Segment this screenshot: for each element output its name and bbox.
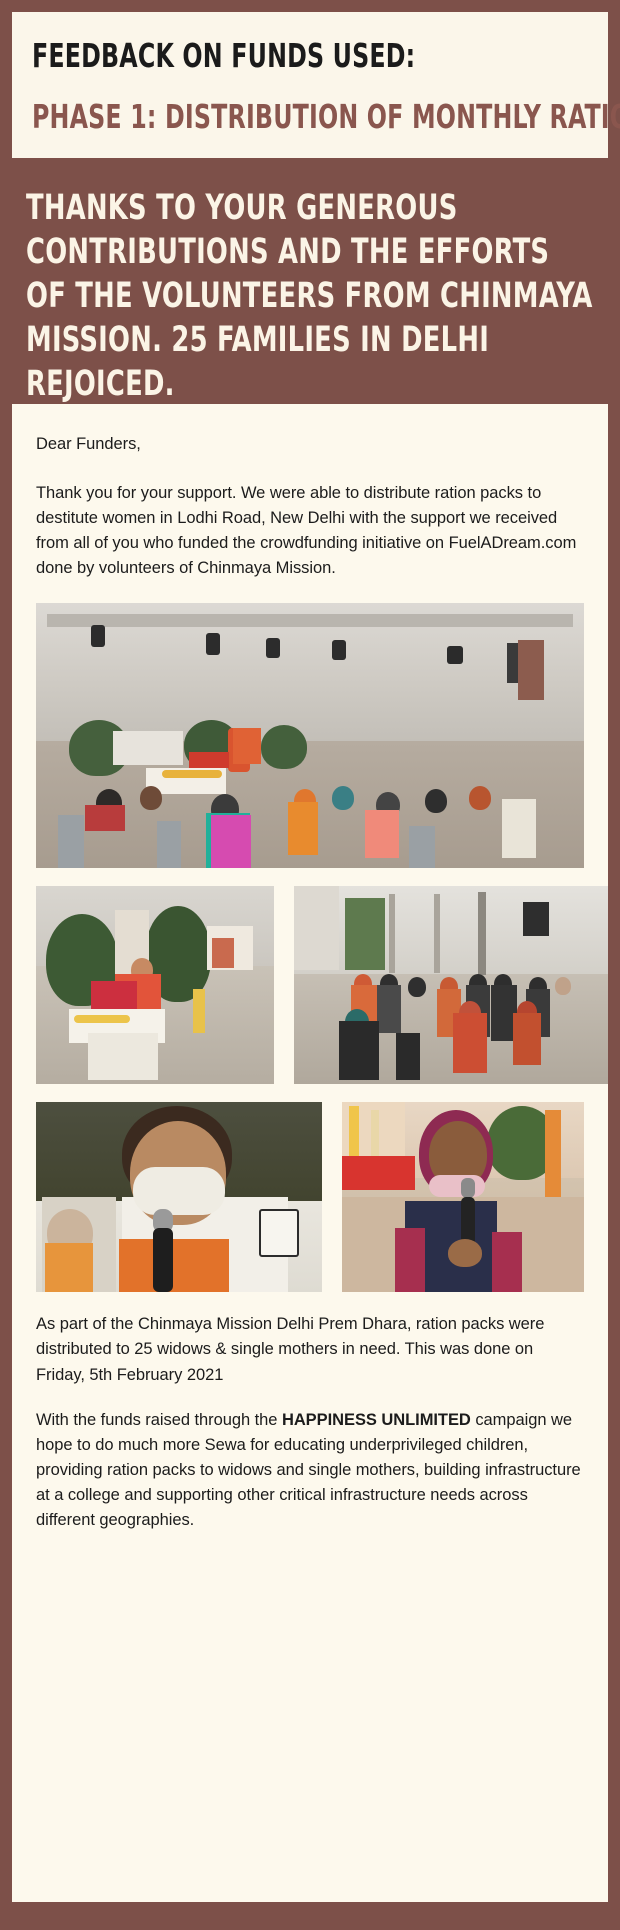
campaign-name-emphasis: HAPPINESS UNLIMITED: [282, 1411, 471, 1429]
feedback-update-page: FEEDBACK ON FUNDS USED: PHASE 1: DISTRIB…: [0, 0, 620, 1930]
photo-gallery: [36, 603, 584, 1292]
photo-stage-speaker: [36, 886, 274, 1084]
intro-paragraph: Thank you for your support. We were able…: [36, 481, 584, 581]
photo-hall-audience: [36, 603, 584, 868]
title-card: FEEDBACK ON FUNDS USED: PHASE 1: DISTRIB…: [12, 12, 608, 158]
page-title-secondary: PHASE 1: DISTRIBUTION OF MONTHLY RATIONS…: [32, 99, 477, 136]
banner: THANKS TO YOUR GENEROUS CONTRIBUTIONS AN…: [12, 186, 608, 406]
photo-row: [36, 603, 584, 868]
photo-woman-microphone: [342, 1102, 584, 1292]
photo-row: [36, 1102, 584, 1292]
greeting-text: Dear Funders,: [36, 432, 584, 457]
page-title-primary: FEEDBACK ON FUNDS USED:: [32, 38, 477, 75]
photo-man-microphone: [36, 1102, 322, 1292]
body-panel: Dear Funders, Thank you for your support…: [12, 404, 608, 1902]
photo-row: [36, 886, 584, 1084]
photo-lobby-distribution: [294, 886, 608, 1084]
campaign-text-lead: With the funds raised through the: [36, 1411, 282, 1429]
banner-headline: THANKS TO YOUR GENEROUS CONTRIBUTIONS AN…: [26, 186, 594, 406]
campaign-paragraph: With the funds raised through the HAPPIN…: [36, 1408, 584, 1533]
distribution-paragraph: As part of the Chinmaya Mission Delhi Pr…: [36, 1312, 584, 1387]
